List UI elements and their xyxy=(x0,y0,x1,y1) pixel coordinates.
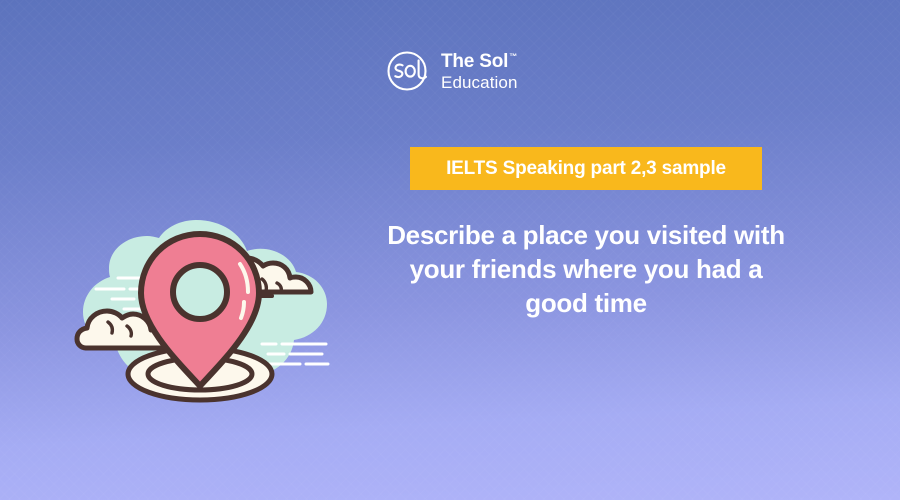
illustration-svg xyxy=(72,206,352,436)
slide-canvas: The Sol™ Education IELTS Speaking part 2… xyxy=(0,0,900,500)
brand-logo[interactable]: The Sol™ Education xyxy=(386,48,518,94)
badge-label: IELTS Speaking part 2,3 sample xyxy=(446,158,726,180)
page-title: Describe a place you visited with your f… xyxy=(380,218,792,320)
category-badge: IELTS Speaking part 2,3 sample xyxy=(410,147,762,190)
logo-wordmark: The Sol™ Education xyxy=(441,52,518,91)
logo-subtitle: Education xyxy=(441,74,518,91)
sol-circle-mark-icon xyxy=(386,48,432,94)
trademark-symbol: ™ xyxy=(509,52,517,61)
logo-brand-name: The Sol™ xyxy=(441,52,518,71)
map-pin-location-illustration xyxy=(72,206,352,436)
